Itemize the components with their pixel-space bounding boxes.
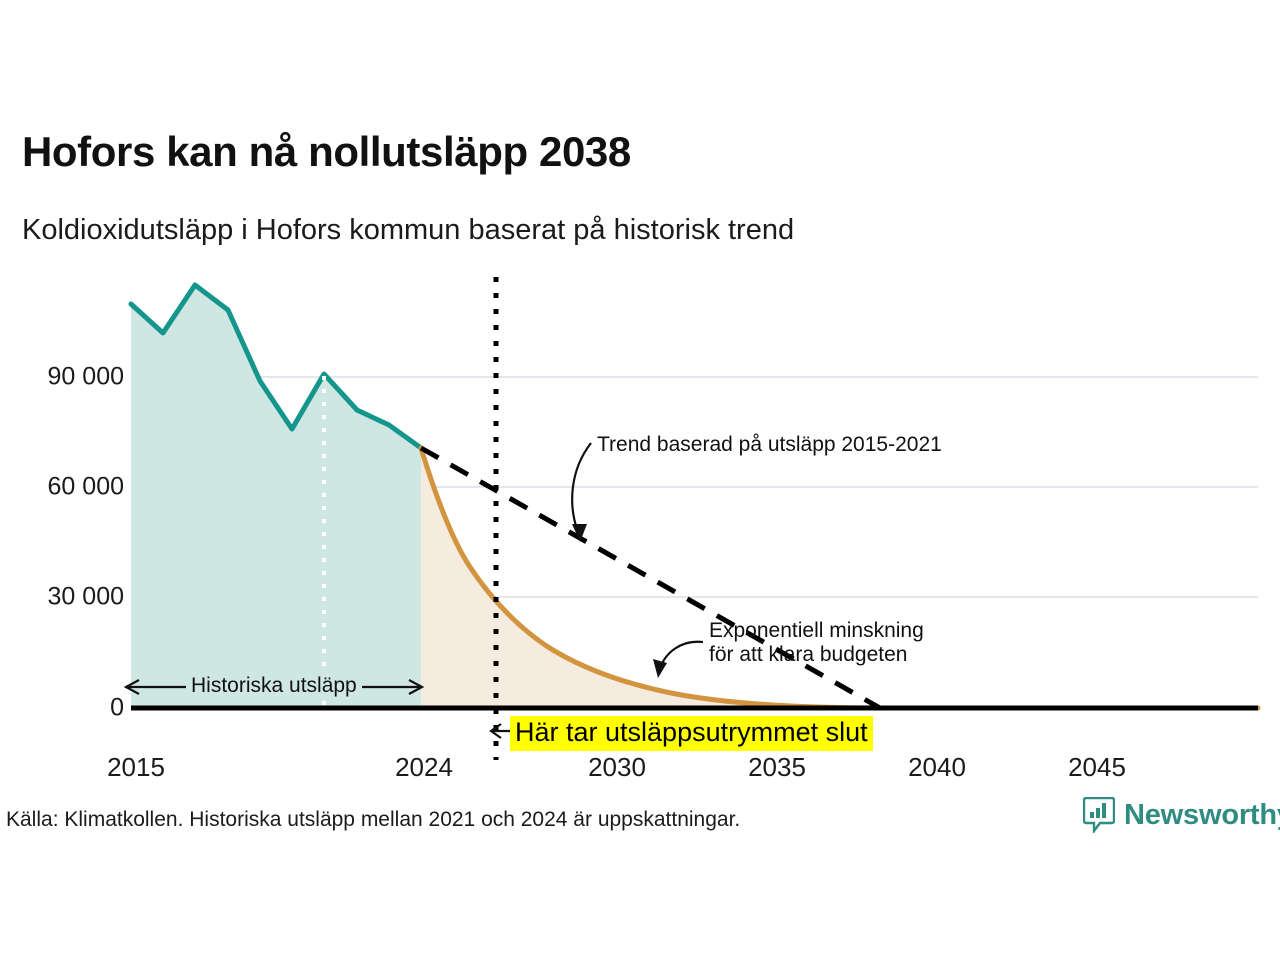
trend-annotation-label: Trend baserad på utsläpp 2015-2021: [597, 433, 942, 457]
budget-end-label: Här tar utsläppsutrymmet slut: [510, 716, 873, 751]
trend-callout-arrow: [572, 443, 591, 542]
exponential-callout-arrow: [653, 642, 703, 678]
x-tick-2045: 2045: [1068, 752, 1126, 783]
exponential-annotation-line1: Exponentiell minskning: [709, 619, 924, 643]
source-note: Källa: Klimatkollen. Historiska utsläpp …: [6, 808, 740, 832]
x-tick-2035: 2035: [748, 752, 806, 783]
historical-span-label: Historiska utsläpp: [186, 674, 362, 698]
x-tick-2040: 2040: [908, 752, 966, 783]
newsworthy-logo-text: Newsworthy: [1124, 799, 1280, 832]
y-tick-0: 0: [6, 694, 124, 723]
x-tick-2015: 2015: [107, 752, 165, 783]
y-tick-30000: 30 000: [6, 583, 124, 612]
y-tick-60000: 60 000: [6, 473, 124, 502]
exponential-annotation-label: Exponentiell minskning för att klara bud…: [709, 619, 924, 666]
x-tick-2024: 2024: [395, 752, 453, 783]
newsworthy-bars-bubble-icon: [1083, 797, 1115, 833]
newsworthy-logo: Newsworthy: [1083, 797, 1280, 833]
y-tick-90000: 90 000: [6, 363, 124, 392]
exponential-annotation-line2: för att klara budgeten: [709, 643, 924, 667]
historical-area-fill: [131, 285, 421, 708]
x-tick-2030: 2030: [588, 752, 646, 783]
chart-page: Hofors kan nå nollutsläpp 2038 Koldioxid…: [0, 0, 1280, 960]
